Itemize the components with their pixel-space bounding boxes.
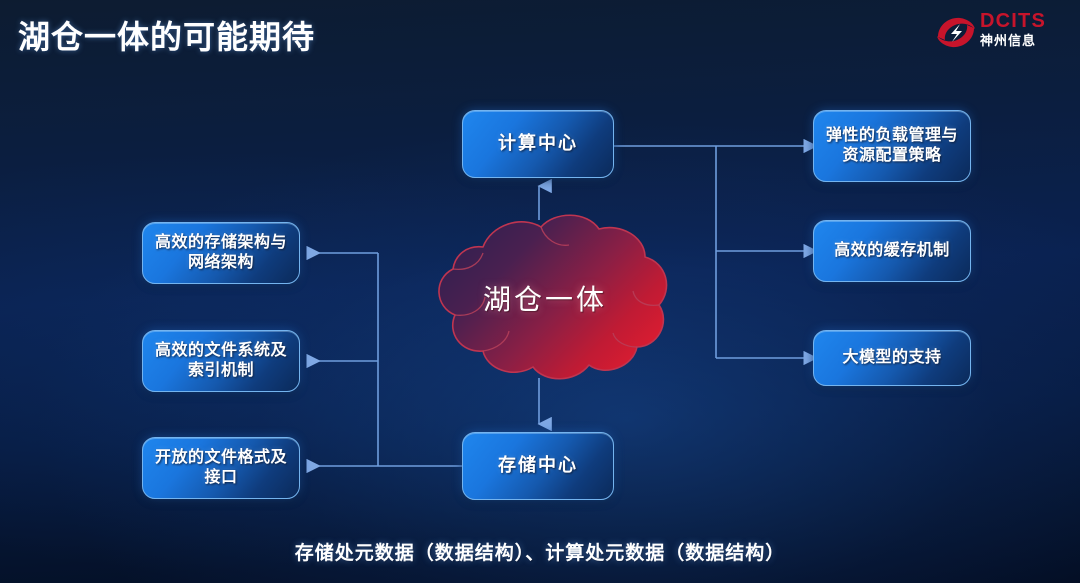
slide-canvas: 湖仓一体的可能期待 DCITS 神州信息 <box>0 0 1080 583</box>
node-storage-architecture-label: 高效的存储架构与网络架构 <box>143 233 299 274</box>
node-cache-mechanism[interactable]: 高效的缓存机制 <box>813 220 971 282</box>
node-large-model-support-label: 大模型的支持 <box>833 348 950 368</box>
page-title: 湖仓一体的可能期待 <box>18 12 315 58</box>
dcits-swoosh-icon <box>934 13 978 51</box>
node-compute-center-label: 计算中心 <box>489 132 587 155</box>
cloud-center-label: 湖仓一体 <box>405 205 685 390</box>
node-elastic-workload[interactable]: 弹性的负载管理与资源配置策略 <box>813 110 971 182</box>
logo-english-name: DCITS <box>980 10 1068 32</box>
node-storage-center[interactable]: 存储中心 <box>462 432 614 500</box>
node-storage-center-label: 存储中心 <box>489 454 587 477</box>
lakehouse-cloud: 湖仓一体 <box>405 205 685 390</box>
node-storage-architecture[interactable]: 高效的存储架构与网络架构 <box>142 222 300 284</box>
logo-text-block: DCITS 神州信息 <box>980 10 1068 49</box>
logo-chinese-name: 神州信息 <box>980 32 1068 49</box>
node-open-file-format[interactable]: 开放的文件格式及接口 <box>142 437 300 499</box>
node-file-system-index-label: 高效的文件系统及索引机制 <box>143 341 299 382</box>
node-cache-mechanism-label: 高效的缓存机制 <box>825 241 959 261</box>
brand-logo: DCITS 神州信息 <box>934 10 1068 56</box>
node-elastic-workload-label: 弹性的负载管理与资源配置策略 <box>814 126 970 167</box>
node-large-model-support[interactable]: 大模型的支持 <box>813 330 971 386</box>
footer-note: 存储处元数据（数据结构）、计算处元数据（数据结构） <box>0 538 1080 565</box>
node-file-system-index[interactable]: 高效的文件系统及索引机制 <box>142 330 300 392</box>
slide-header: 湖仓一体的可能期待 DCITS 神州信息 <box>0 0 1080 72</box>
node-open-file-format-label: 开放的文件格式及接口 <box>143 448 299 489</box>
node-compute-center[interactable]: 计算中心 <box>462 110 614 178</box>
